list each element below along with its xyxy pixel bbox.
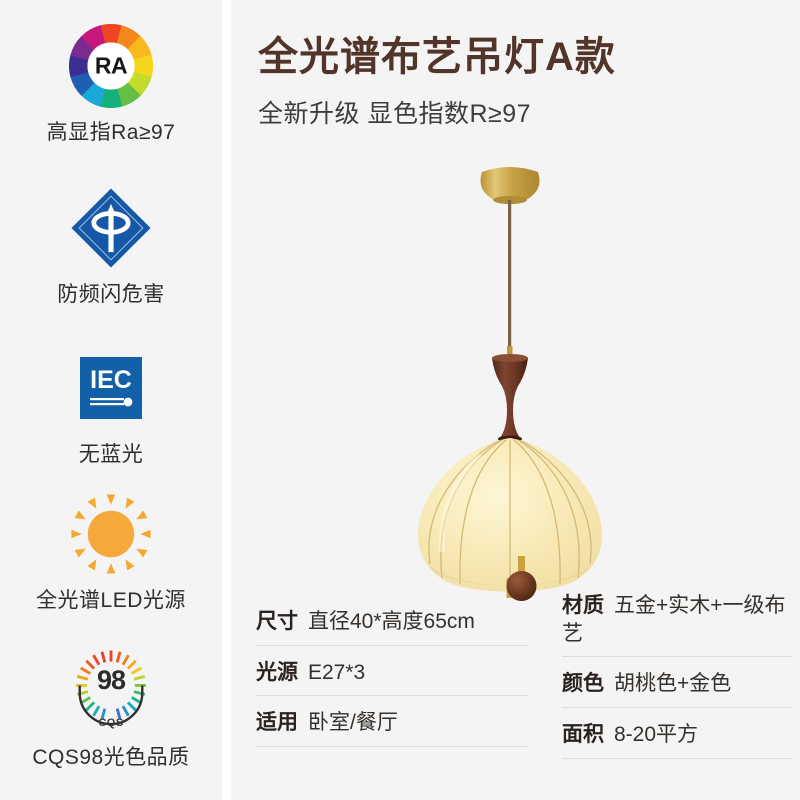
- spec-value-color: 胡桃色+金色: [614, 672, 731, 695]
- spec-key-color: 颜色: [562, 672, 604, 695]
- cert-label-iec: 无蓝光: [0, 438, 222, 468]
- cqs-score-subtext: CQS: [65, 717, 157, 729]
- product-header: 全光谱布艺吊灯A款 全新升级 显色指数R≥97: [258, 34, 778, 130]
- spec-key-material: 材质: [562, 594, 604, 617]
- product-detail-page: RA 高显指Ra≥97 防频闪危害: [0, 0, 800, 800]
- certification-sidebar: RA 高显指Ra≥97 防频闪危害: [0, 0, 222, 800]
- iec-badge-icon-wrap: IEC: [0, 342, 222, 434]
- cqs-score-value: 98: [65, 665, 157, 696]
- spec-value-light-source: E27*3: [308, 661, 365, 684]
- cert-label-cqs: CQS98光色品质: [0, 741, 222, 771]
- table-row: 面积8-20平方: [562, 721, 792, 759]
- spec-key-area: 面积: [562, 723, 604, 746]
- spec-value-area: 8-20平方: [614, 723, 698, 746]
- sidebar-divider: [222, 0, 231, 800]
- spec-value-size: 直径40*高度65cm: [308, 610, 475, 633]
- cqc-diamond-icon-wrap: [0, 182, 222, 274]
- full-spectrum-sun-icon: [68, 491, 154, 577]
- spec-column-left: 尺寸直径40*高度65cm 光源E27*3 适用卧室/餐厅: [256, 608, 528, 747]
- full-spectrum-sun-icon-wrap: [0, 488, 222, 580]
- page-title: 全光谱布艺吊灯A款: [258, 34, 778, 80]
- table-row: 材质五金+实木+一级布艺: [562, 592, 792, 657]
- iec-badge-icon: IEC: [80, 357, 142, 419]
- cert-item-flicker: 防频闪危害: [0, 182, 222, 308]
- spec-value-suitable: 卧室/餐厅: [308, 711, 398, 734]
- finial-ball-icon: [507, 571, 537, 601]
- cqc-diamond-icon: [68, 185, 154, 271]
- ra-icon-text: RA: [88, 43, 135, 90]
- pendant-lamp-photo: [330, 160, 690, 600]
- ra-color-wheel-icon-wrap: RA: [0, 20, 222, 112]
- table-row: 尺寸直径40*高度65cm: [256, 608, 528, 646]
- cert-item-iec: IEC 无蓝光: [0, 342, 222, 468]
- cert-label-ra: 高显指Ra≥97: [0, 116, 222, 146]
- table-row: 适用卧室/餐厅: [256, 709, 528, 747]
- spec-key-suitable: 适用: [256, 711, 298, 734]
- cert-label-flicker: 防频闪危害: [0, 278, 222, 308]
- ra-color-wheel-icon: RA: [69, 24, 153, 108]
- cert-item-cqs: 98 CQS CQS98光色品质: [0, 645, 222, 771]
- table-row: 光源E27*3: [256, 659, 528, 697]
- cqs-score-icon-wrap: 98 CQS: [0, 645, 222, 737]
- cert-label-full-spectrum: 全光谱LED光源: [0, 584, 222, 614]
- table-row: 颜色胡桃色+金色: [562, 670, 792, 708]
- spec-column-right: 材质五金+实木+一级布艺 颜色胡桃色+金色 面积8-20平方: [562, 592, 792, 759]
- iec-icon-text: IEC: [90, 368, 132, 393]
- iec-lines-glyph: [89, 396, 133, 409]
- cert-item-full-spectrum: 全光谱LED光源: [0, 488, 222, 614]
- spec-key-light-source: 光源: [256, 661, 298, 684]
- cqs-score-icon: 98 CQS: [65, 645, 157, 737]
- cert-item-ra: RA 高显指Ra≥97: [0, 20, 222, 146]
- page-subtitle: 全新升级 显色指数R≥97: [258, 94, 778, 130]
- spec-key-size: 尺寸: [256, 610, 298, 633]
